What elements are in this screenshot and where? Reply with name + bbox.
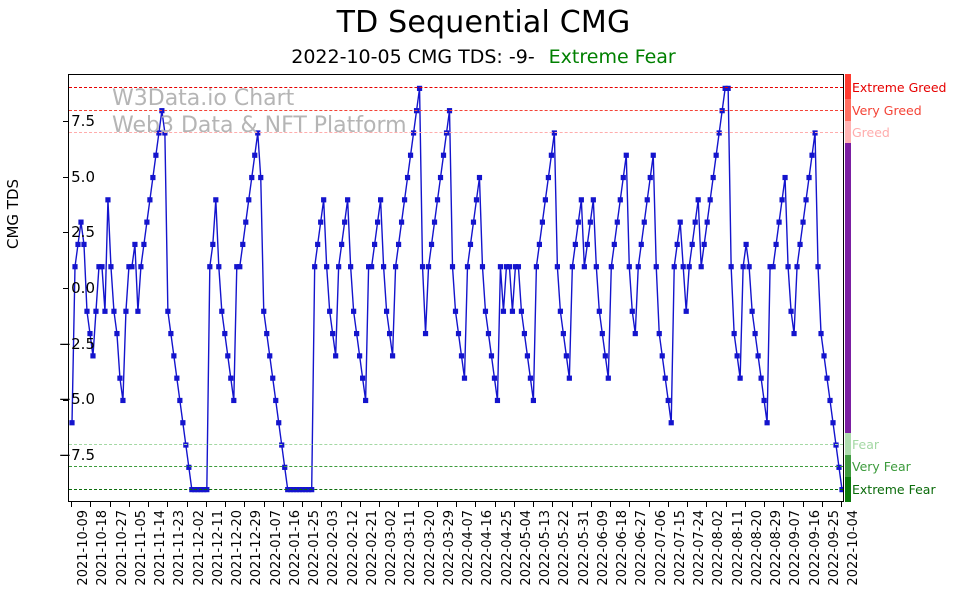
x-tick-label: 2021-11-05: [135, 510, 148, 586]
x-tick-label: 2022-01-16: [289, 510, 302, 586]
x-tick-mark: [129, 502, 130, 507]
subtitle-value: 2022-10-05 CMG TDS: -9-: [291, 46, 534, 68]
x-tick-label: 2021-10-18: [96, 510, 109, 586]
threshold-line-very-fear: [69, 466, 843, 467]
x-tick-mark: [187, 502, 188, 507]
x-tick-label: 2022-01-25: [308, 510, 321, 586]
x-tick-mark: [283, 502, 284, 507]
x-tick-mark: [803, 502, 804, 507]
plot-area: [68, 74, 844, 502]
x-tick-label: 2021-12-11: [212, 510, 225, 586]
colorbar-segment: [845, 74, 851, 99]
colorbar-segment: [845, 433, 851, 455]
x-tick-mark: [225, 502, 226, 507]
x-tick-label: 2022-09-16: [809, 510, 822, 586]
x-tick-label: 2022-04-16: [481, 510, 494, 586]
x-tick-mark: [475, 502, 476, 507]
x-tick-label: 2021-11-14: [154, 510, 167, 586]
x-tick-mark: [167, 502, 168, 507]
threshold-label-greed: Greed: [852, 126, 890, 139]
x-tick-label: 2021-10-09: [77, 510, 90, 586]
x-tick-label: 2022-08-02: [712, 510, 725, 586]
threshold-label-extreme-greed: Extreme Greed: [852, 81, 946, 94]
x-tick-mark: [822, 502, 823, 507]
x-tick-label: 2022-09-25: [828, 510, 841, 586]
x-tick-mark: [687, 502, 688, 507]
colorbar-segment: [845, 455, 851, 477]
x-tick-mark: [552, 502, 553, 507]
y-tick-mark: [63, 177, 68, 178]
x-tick-mark: [745, 502, 746, 507]
x-tick-mark: [302, 502, 303, 507]
x-tick-mark: [783, 502, 784, 507]
x-tick-mark: [437, 502, 438, 507]
x-tick-mark: [379, 502, 380, 507]
x-tick-label: 2022-01-07: [270, 510, 283, 586]
x-tick-label: 2022-03-29: [443, 510, 456, 586]
x-tick-mark: [629, 502, 630, 507]
x-tick-mark: [495, 502, 496, 507]
x-tick-label: 2021-12-02: [193, 510, 206, 586]
chart-subtitle: 2022-10-05 CMG TDS: -9-Extreme Fear: [0, 44, 967, 70]
x-tick-label: 2022-06-09: [597, 510, 610, 586]
colorbar-segment: [845, 143, 851, 433]
threshold-label-very-fear: Very Fear: [852, 460, 911, 473]
threshold-label-extreme-fear: Extreme Fear: [852, 483, 936, 496]
subtitle-sentiment-tag: Extreme Fear: [535, 46, 676, 68]
x-tick-mark: [360, 502, 361, 507]
plot-inner: [69, 75, 843, 501]
x-tick-label: 2022-05-22: [558, 510, 571, 586]
x-tick-mark: [110, 502, 111, 507]
x-tick-mark: [726, 502, 727, 507]
x-tick-label: 2022-08-11: [732, 510, 745, 586]
x-tick-mark: [418, 502, 419, 507]
x-tick-mark: [206, 502, 207, 507]
x-tick-label: 2022-07-15: [674, 510, 687, 586]
x-tick-mark: [706, 502, 707, 507]
threshold-line-fear: [69, 444, 843, 445]
colorbar-segment: [845, 99, 851, 121]
x-tick-label: 2022-07-06: [655, 510, 668, 586]
x-tick-label: 2022-05-13: [539, 510, 552, 586]
x-tick-mark: [264, 502, 265, 507]
y-tick-mark: [63, 455, 68, 456]
y-tick-mark: [63, 121, 68, 122]
threshold-line-extreme-fear: [69, 489, 843, 490]
x-tick-mark: [341, 502, 342, 507]
y-tick-mark: [63, 232, 68, 233]
x-tick-label: 2022-04-07: [462, 510, 475, 586]
watermark-line-1: W3Data.io Chart: [112, 86, 294, 111]
x-tick-label: 2022-06-18: [616, 510, 629, 586]
x-tick-mark: [764, 502, 765, 507]
x-tick-mark: [514, 502, 515, 507]
x-tick-label: 2022-09-07: [789, 510, 802, 586]
x-tick-mark: [533, 502, 534, 507]
x-tick-label: 2022-08-20: [751, 510, 764, 586]
x-tick-label: 2021-12-29: [250, 510, 263, 586]
x-tick-mark: [668, 502, 669, 507]
x-tick-mark: [148, 502, 149, 507]
x-tick-mark: [90, 502, 91, 507]
x-tick-mark: [71, 502, 72, 507]
x-tick-label: 2022-04-25: [501, 510, 514, 586]
x-tick-label: 2021-11-23: [173, 510, 186, 586]
x-tick-label: 2022-06-27: [635, 510, 648, 586]
x-tick-label: 2022-03-02: [385, 510, 398, 586]
x-tick-label: 2022-03-11: [404, 510, 417, 586]
x-tick-mark: [841, 502, 842, 507]
x-tick-label: 2022-07-24: [693, 510, 706, 586]
x-tick-label: 2022-05-31: [578, 510, 591, 586]
x-tick-mark: [649, 502, 650, 507]
threshold-label-fear: Fear: [852, 438, 879, 451]
y-tick-mark: [63, 288, 68, 289]
x-tick-mark: [591, 502, 592, 507]
x-tick-mark: [321, 502, 322, 507]
x-tick-mark: [610, 502, 611, 507]
x-tick-label: 2022-02-12: [347, 510, 360, 586]
colorbar-segment: [845, 477, 851, 502]
x-tick-label: 2022-05-04: [520, 510, 533, 586]
x-tick-mark: [244, 502, 245, 507]
colorbar-segment: [845, 121, 851, 143]
x-tick-label: 2022-10-04: [847, 510, 860, 586]
x-tick-label: 2022-03-20: [424, 510, 437, 586]
y-tick-mark: [63, 399, 68, 400]
x-tick-mark: [456, 502, 457, 507]
x-tick-label: 2022-08-29: [770, 510, 783, 586]
x-tick-mark: [572, 502, 573, 507]
y-tick-mark: [63, 344, 68, 345]
x-tick-label: 2021-12-20: [231, 510, 244, 586]
chart-title: TD Sequential CMG: [0, 5, 967, 41]
x-tick-label: 2021-10-27: [116, 510, 129, 586]
x-tick-label: 2022-02-21: [366, 510, 379, 586]
x-tick-mark: [398, 502, 399, 507]
watermark-line-2: Web3 Data & NFT Platform: [112, 113, 407, 138]
x-tick-label: 2022-02-03: [327, 510, 340, 586]
threshold-label-very-greed: Very Greed: [852, 104, 922, 117]
y-axis-label: CMG TDS: [4, 231, 22, 249]
data-series-line: [69, 75, 843, 501]
chart-root: TD Sequential CMG 2022-10-05 CMG TDS: -9…: [0, 0, 967, 613]
